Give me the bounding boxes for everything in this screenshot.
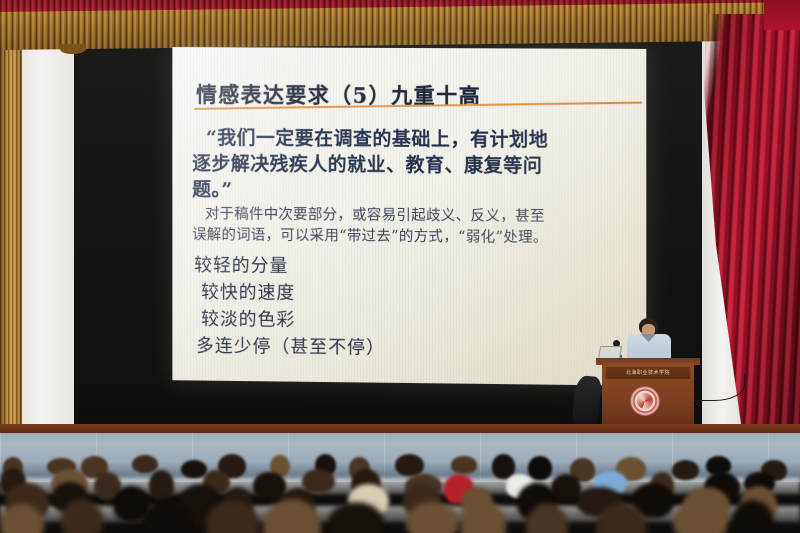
audience-head bbox=[528, 456, 553, 481]
audience-head bbox=[149, 470, 174, 501]
bullet-item: 较淡的色彩 bbox=[194, 306, 385, 335]
audience bbox=[0, 420, 800, 533]
projected-slide: 情感表达要求（5）九重十高 “我们一定要在调查的基础上，有计划地 逐步解决残疾人… bbox=[172, 47, 646, 386]
audience-head bbox=[451, 456, 477, 473]
audience-head bbox=[61, 499, 104, 533]
quote-line-1: “我们一定要在调查的基础上，有计划地 bbox=[192, 125, 632, 154]
podium-group: 北海职业技术学院 bbox=[596, 318, 700, 430]
stage-wall-left bbox=[18, 36, 74, 428]
slide-bullet-list: 较轻的分量 较快的速度 较淡的色彩 多连少停（甚至不停） bbox=[194, 252, 385, 362]
bullet-item: 较轻的分量 bbox=[194, 252, 385, 281]
audience-head bbox=[672, 460, 699, 481]
audience-head bbox=[253, 472, 286, 499]
gold-curtain-pleat-texture bbox=[0, 24, 22, 430]
quote-line-2: 逐步解决残疾人的就业、教育、康复等问 bbox=[192, 151, 632, 180]
audience-head bbox=[132, 455, 158, 474]
auditorium-photo: 情感表达要求（5）九重十高 “我们一定要在调查的基础上，有计划地 逐步解决残疾人… bbox=[0, 0, 800, 533]
red-curtain-far-right bbox=[764, 0, 800, 30]
emblem-swirl-icon bbox=[637, 393, 653, 409]
slide-paragraph: 对于稿件中次要部分，或容易引起歧义、反义，甚至 误解的词语，可以采用“带过去”的… bbox=[192, 204, 636, 250]
slide-quote: “我们一定要在调查的基础上，有计划地 逐步解决残疾人的就业、教育、康复等问 题。… bbox=[192, 125, 632, 206]
bullet-item: 多连少停（甚至不停） bbox=[194, 333, 385, 362]
institution-emblem-icon bbox=[630, 386, 660, 416]
audience-head bbox=[181, 460, 207, 479]
audience-head bbox=[395, 454, 424, 476]
quote-line-3: 题。” bbox=[192, 176, 632, 205]
gold-curtain-left bbox=[0, 24, 22, 430]
bullet-item: 较快的速度 bbox=[194, 279, 385, 308]
paragraph-line-2: 误解的词语，可以采用“带过去”的方式，“弱化”处理。 bbox=[192, 225, 636, 250]
audience-head bbox=[302, 469, 335, 493]
podium-nameplate: 北海职业技术学院 bbox=[606, 367, 690, 379]
